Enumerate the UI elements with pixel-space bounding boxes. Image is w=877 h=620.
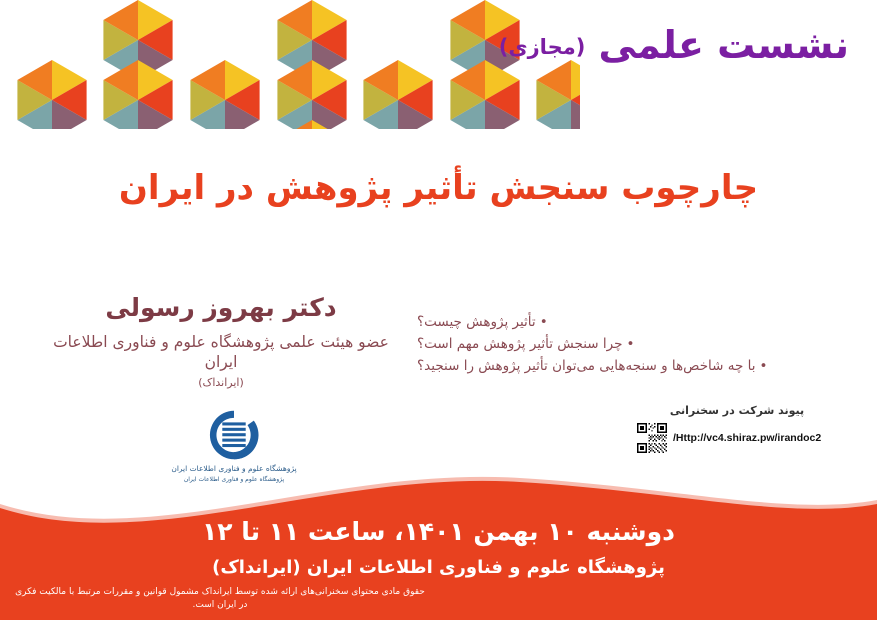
join-link-label: پیوند شرکت در سخنرانی xyxy=(637,404,837,417)
speaker-affiliation-short: (ایرانداک) xyxy=(40,376,402,389)
irandoc-logo-icon xyxy=(207,408,261,462)
bullet-icon: • xyxy=(540,314,548,330)
event-datetime: دوشنبه ۱۰ بهمن ۱۴۰۱، ساعت ۱۱ تا ۱۲ xyxy=(0,515,877,549)
hexagon-row-middle xyxy=(17,60,580,129)
speaker-name: دکتر بهروز رسولی xyxy=(40,292,402,325)
session-kicker-mode: (مجازی) xyxy=(499,35,586,59)
list-item: •چرا سنجش تأثیر پژوهش مهم است؟ xyxy=(417,334,837,356)
event-venue: پژوهشگاه علوم و فناوری اطلاعات ایران (ای… xyxy=(0,557,877,578)
bullet-icon: • xyxy=(760,358,768,374)
join-link-block[interactable]: پیوند شرکت در سخنرانی xyxy=(637,404,837,453)
list-item: •تأثیر پژوهش چیست؟ xyxy=(417,312,837,334)
topic-text: با چه شاخص‌ها و سنجه‌هایی می‌توان تأثیر … xyxy=(417,358,756,374)
copyright-notice: حقوق مادی محتوای سخنرانی‌های ارائه شده ت… xyxy=(10,586,430,612)
bullet-icon: • xyxy=(626,336,634,352)
speaker-affiliation: عضو هیئت علمی پژوهشگاه علوم و فناوری اطل… xyxy=(40,332,402,374)
list-item: •با چه شاخص‌ها و سنجه‌هایی می‌توان تأثیر… xyxy=(417,356,837,378)
join-link-row[interactable]: /Http://vc4.shiraz.pw/irandoc2 xyxy=(637,423,837,453)
speaker-block: دکتر بهروز رسولی عضو هیئت علمی پژوهشگاه … xyxy=(40,292,402,389)
join-url-text[interactable]: /Http://vc4.shiraz.pw/irandoc2 xyxy=(673,432,821,444)
footer-text-block: دوشنبه ۱۰ بهمن ۱۴۰۱، ساعت ۱۱ تا ۱۲ پژوهش… xyxy=(0,515,877,578)
event-poster: نشست علمی (مجازی) چارچوب سنجش تأثیر پژوه… xyxy=(0,0,877,620)
topics-list: •تأثیر پژوهش چیست؟ •چرا سنجش تأثیر پژوهش… xyxy=(417,312,837,378)
hexagon-pattern-banner xyxy=(0,0,580,129)
page-title: چارچوب سنجش تأثیر پژوهش در ایران xyxy=(0,168,877,208)
session-kicker: نشست علمی (مجازی) xyxy=(499,24,849,68)
topic-text: تأثیر پژوهش چیست؟ xyxy=(417,314,536,330)
qr-code-icon[interactable] xyxy=(637,423,667,453)
session-kicker-text: نشست علمی xyxy=(599,23,849,67)
topic-text: چرا سنجش تأثیر پژوهش مهم است؟ xyxy=(417,336,622,352)
